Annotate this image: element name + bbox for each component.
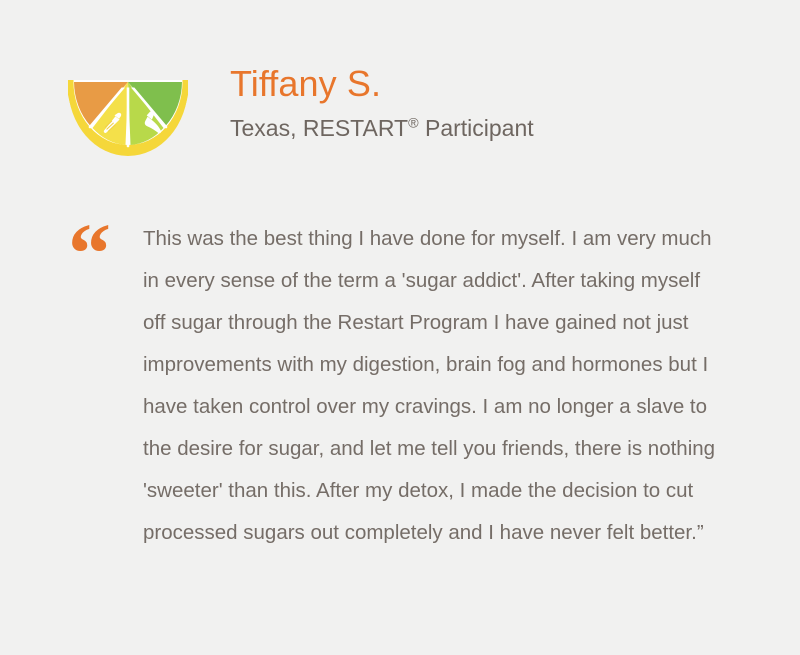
registered-trademark-mark: ® <box>408 115 419 131</box>
author-location-program: Texas, RESTART <box>230 115 408 141</box>
testimonial-header: Tiffany S. Texas, RESTART® Participant <box>0 62 800 182</box>
testimonial-card: Tiffany S. Texas, RESTART® Participant “… <box>0 0 800 655</box>
opening-quotation-mark-icon: “ <box>68 210 128 296</box>
author-identity: Tiffany S. Texas, RESTART® Participant <box>230 62 770 143</box>
author-role: Participant <box>419 115 534 141</box>
citrus-slice-cutlery-logo-icon <box>66 78 190 156</box>
author-meta: Texas, RESTART® Participant <box>230 113 770 143</box>
author-name: Tiffany S. <box>230 62 770 106</box>
testimonial-quote-text: This was the best thing I have done for … <box>143 218 721 554</box>
